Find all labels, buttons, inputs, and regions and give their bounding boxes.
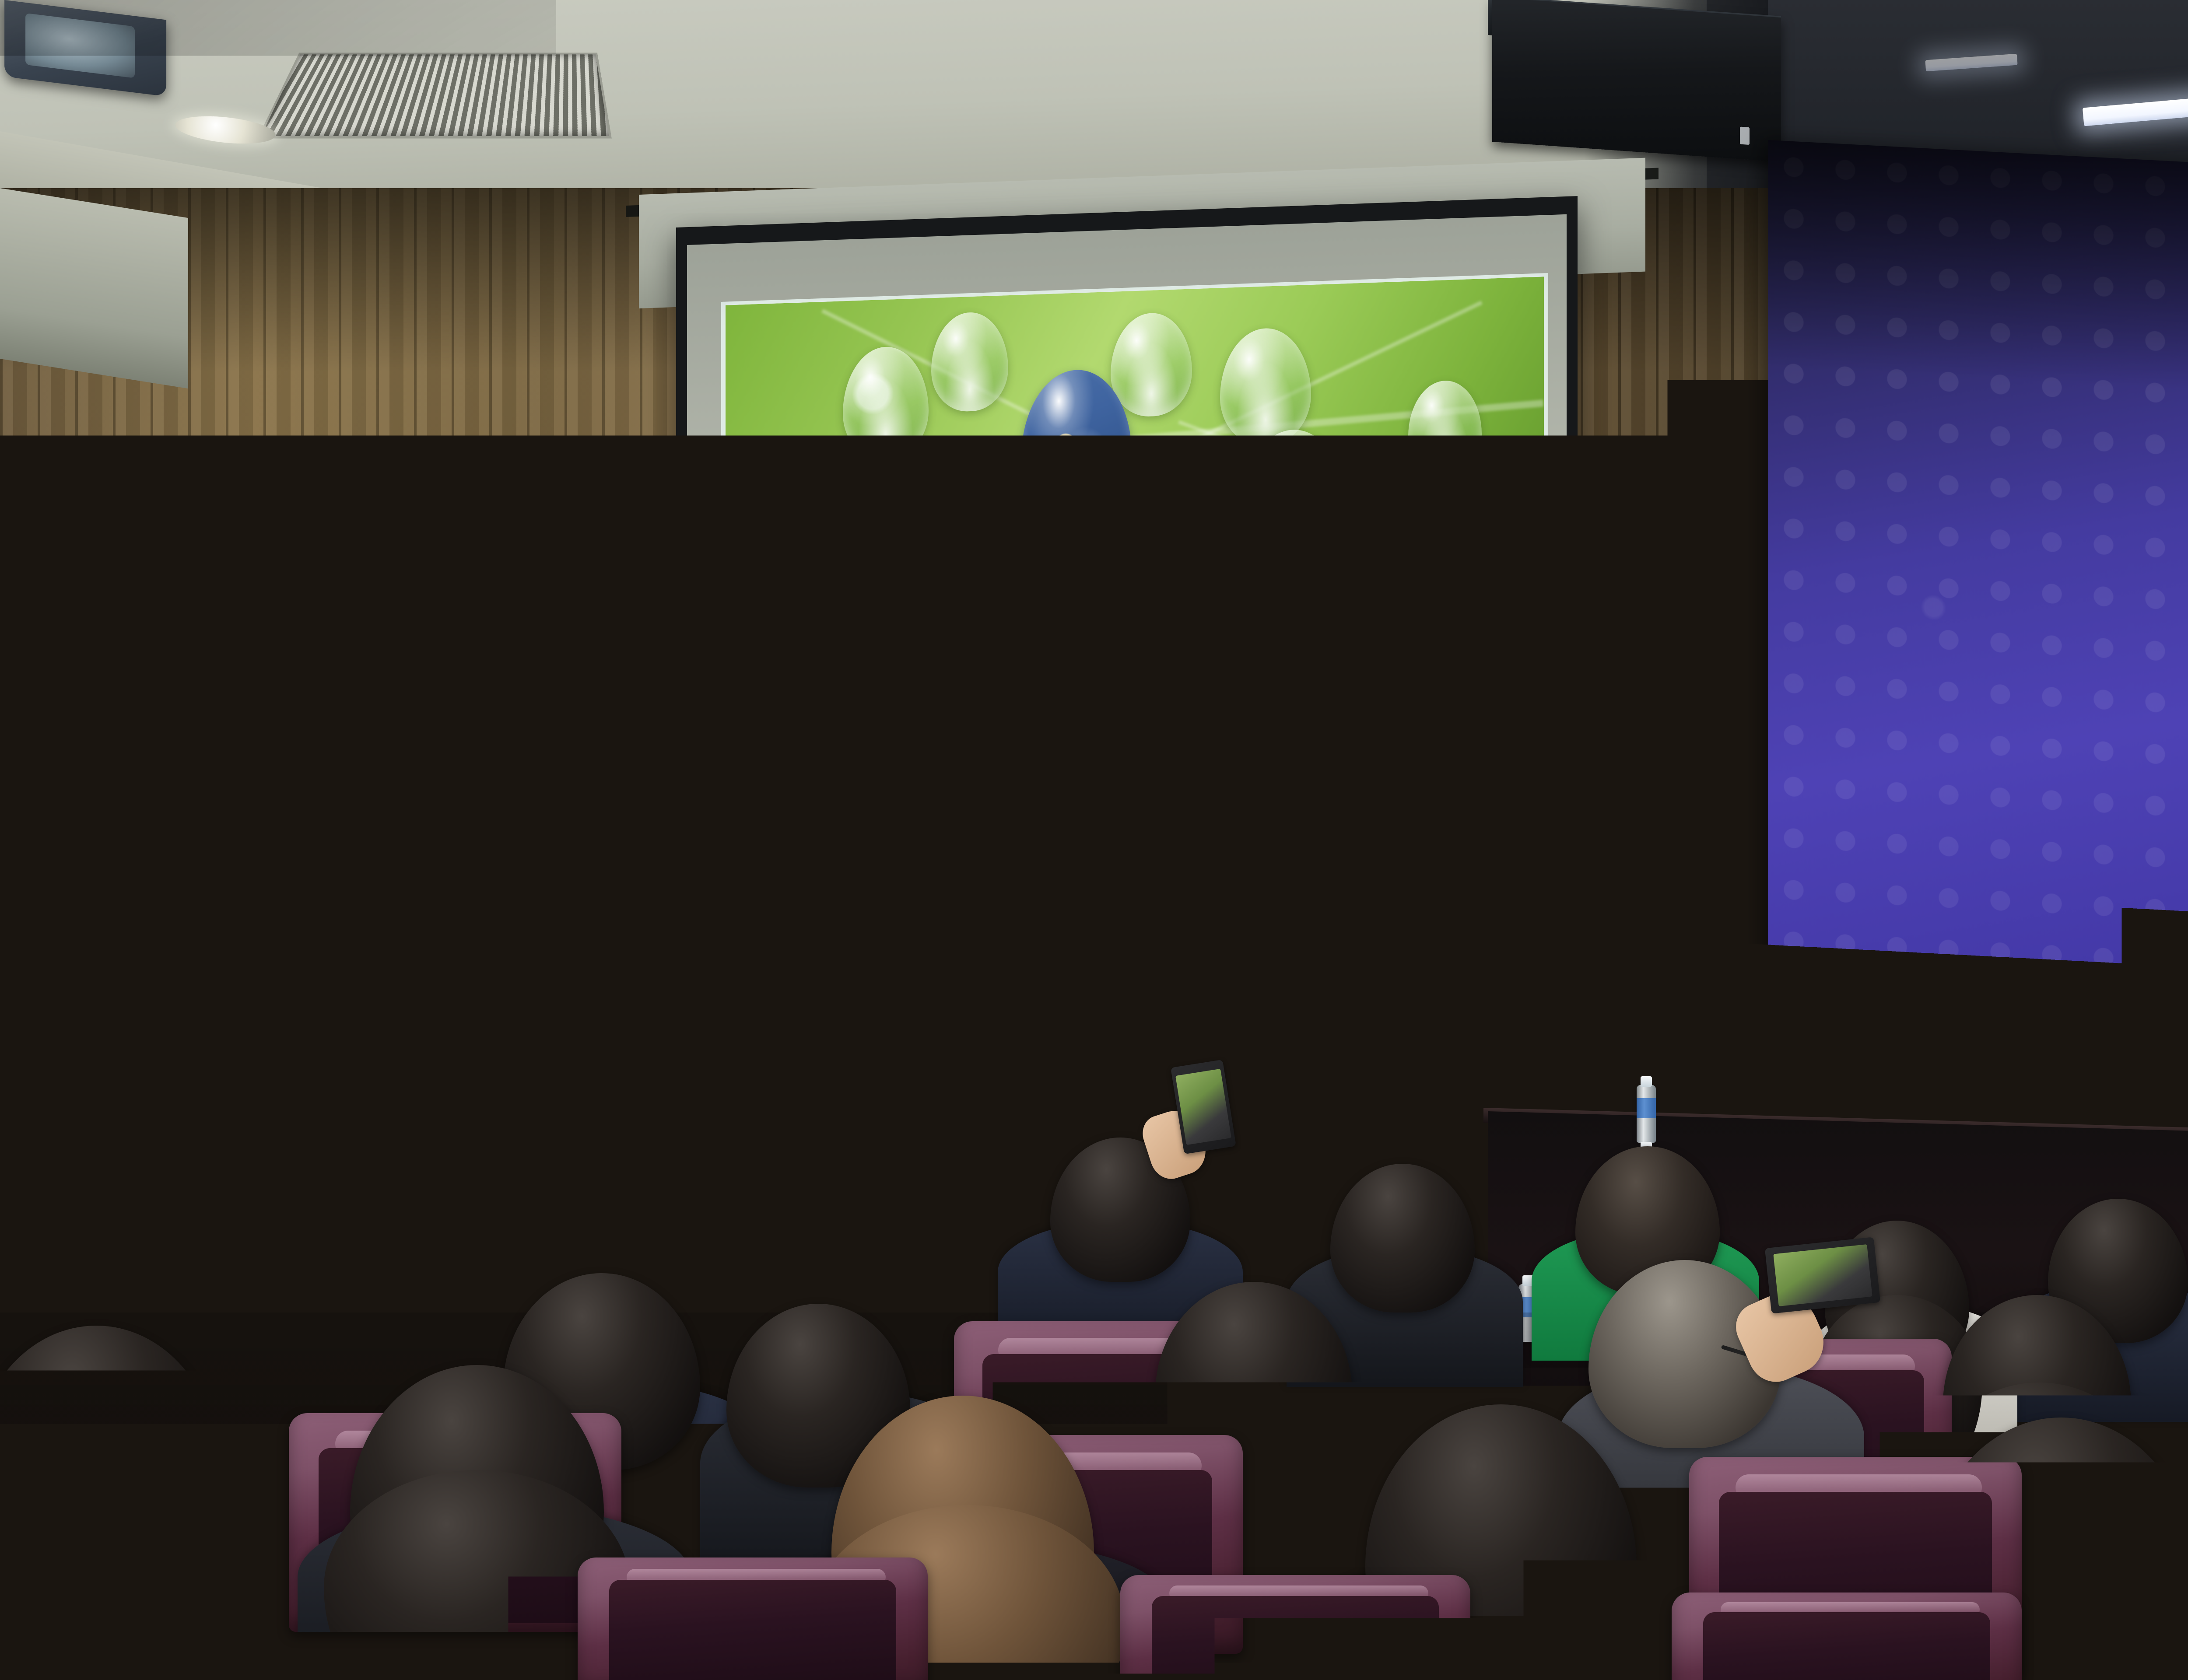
auditorium-seat[interactable] <box>1672 1592 2022 1680</box>
slide-title: 推动辅料科学应用，释放行业创新力量 <box>721 605 1548 683</box>
gooseneck-mic-base <box>1242 976 1281 993</box>
hvac-vent-icon <box>257 53 612 139</box>
rose-flower-icon <box>1066 1101 1105 1137</box>
water-droplet-icon <box>1243 428 1343 556</box>
smartphone-icon[interactable] <box>1765 1237 1880 1313</box>
auditorium-seat[interactable] <box>1120 1575 1470 1680</box>
stock-flower-icon <box>1090 1003 1119 1030</box>
water-bottle-icon <box>1637 1019 1656 1077</box>
eyeglasses-icon <box>777 772 854 792</box>
presenter-person <box>665 717 945 1256</box>
slide-date: 2017/11/28 <box>1383 802 1496 824</box>
stock-flower-icon <box>1037 1059 1070 1090</box>
microphone-capsule-icon <box>812 910 845 941</box>
projector-lens-icon <box>25 13 135 78</box>
water-droplet-icon <box>843 345 929 461</box>
stock-flower-icon <box>1014 940 1045 969</box>
rose-flower-icon <box>1200 950 1238 987</box>
wall-loudspeaker-icon <box>1492 0 1781 162</box>
wristwatch-icon <box>849 1024 873 1038</box>
water-droplet-icon <box>1220 327 1311 447</box>
banner-top-shadow <box>1768 140 2188 407</box>
water-droplet-icon <box>931 311 1008 413</box>
water-bottle-icon <box>1637 1085 1656 1143</box>
stage-microphone-icon <box>1260 785 1285 815</box>
slide-tagline: 全球营养 优中选优 <box>749 582 952 617</box>
rose-flower-icon <box>1221 1007 1261 1046</box>
water-droplet-icon <box>1111 311 1192 417</box>
stock-flower-icon <box>1147 890 1175 916</box>
slide-hero-image: 汤臣倍健 BY-HEALTH <box>726 276 1544 581</box>
wall-upper-panel <box>0 188 188 388</box>
conference-photo-scene: 汤臣倍健 BY-HEALTH 全球营养 优中选优 推动辅料科学应用，释放行业创新… <box>0 0 2188 1680</box>
presenter-belt <box>753 1067 858 1082</box>
water-droplet-icon <box>1408 379 1482 476</box>
rose-flower-icon <box>1024 1094 1067 1135</box>
rose-flower-icon <box>1013 993 1053 1032</box>
stock-flower-icon <box>1069 892 1096 917</box>
auditorium-seat[interactable] <box>578 1557 928 1680</box>
event-banner: 第四届 运 The 4th Chi 指导机 主办单 协办单 <box>1768 140 2188 1177</box>
logo-chinese-text: 汤臣倍健 <box>763 507 896 543</box>
